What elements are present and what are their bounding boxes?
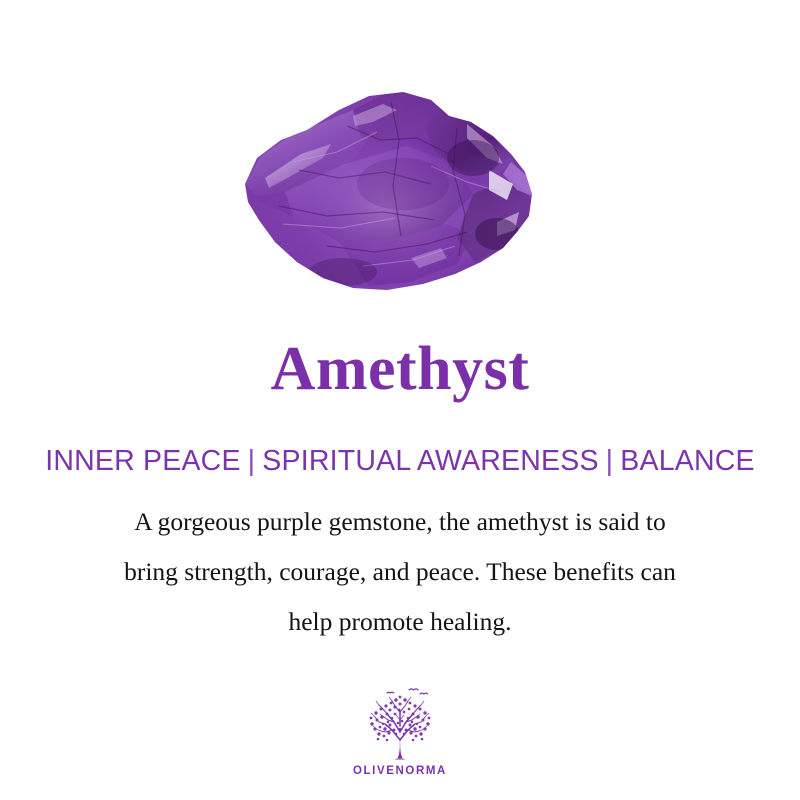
keyword-balance: BALANCE <box>620 445 754 477</box>
amethyst-info-card: Amethyst INNER PEACE|SPIRITUAL AWARENESS… <box>0 0 800 800</box>
brand-logo: OLIVENORMA <box>0 684 800 777</box>
brand-name: OLIVENORMA <box>353 765 447 777</box>
keyword-separator: | <box>241 442 263 481</box>
description-text: A gorgeous purple gemstone, the amethyst… <box>50 497 750 647</box>
keyword-separator: | <box>599 442 621 481</box>
keyword-strip: INNER PEACE|SPIRITUAL AWARENESS|BALANCE <box>0 442 800 480</box>
tree-logo-icon <box>354 684 446 762</box>
keyword-spiritual-awareness: SPIRITUAL AWARENESS <box>262 445 598 477</box>
amethyst-crystal-image <box>235 66 565 306</box>
description-line-1: A gorgeous purple gemstone, the amethyst… <box>50 497 750 547</box>
gemstone-image-container <box>0 62 800 310</box>
gem-facets <box>235 66 565 306</box>
page-title: Amethyst <box>0 333 800 405</box>
description-line-3: help promote healing. <box>50 597 750 647</box>
description-line-2: bring strength, courage, and peace. Thes… <box>50 547 750 597</box>
keyword-inner-peace: INNER PEACE <box>45 445 240 477</box>
